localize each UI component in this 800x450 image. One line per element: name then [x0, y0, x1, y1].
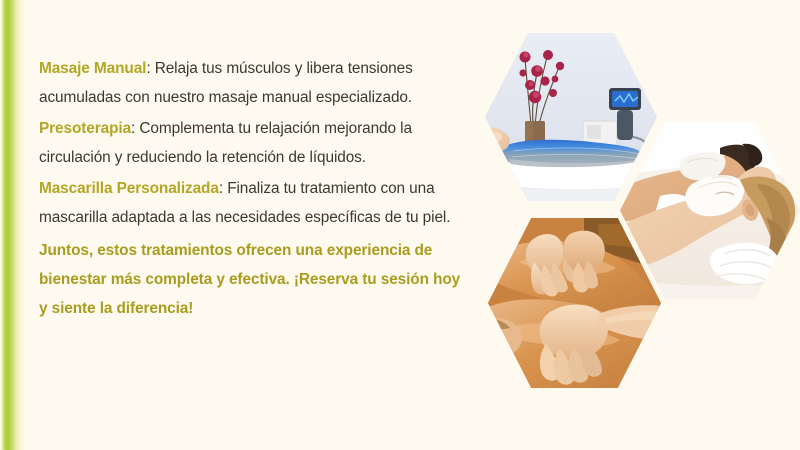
treatment-item: Presoterapia: Complementa tu relajación … — [39, 114, 471, 172]
treatment-label: Mascarilla Personalizada — [39, 180, 219, 197]
presoterapia-photo — [485, 33, 657, 201]
treatments-text-column: Masaje Manual: Relaja tus músculos y lib… — [39, 54, 471, 325]
promo-slide: Masaje Manual: Relaja tus músculos y lib… — [0, 0, 800, 450]
mascarilla-facial-artwork — [620, 122, 800, 299]
treatment-label: Presoterapia — [39, 120, 131, 137]
masaje-manual-artwork — [488, 218, 661, 388]
treatment-label: Masaje Manual — [39, 60, 146, 77]
call-to-action-text: Juntos, estos tratamientos ofrecen una e… — [39, 236, 471, 323]
left-accent-stripe — [0, 0, 26, 450]
masaje-manual-photo — [488, 218, 661, 388]
presoterapia-artwork — [485, 33, 657, 201]
hexagon-image-cluster — [470, 0, 800, 450]
mascarilla-facial-photo — [620, 122, 800, 299]
treatment-item: Masaje Manual: Relaja tus músculos y lib… — [39, 54, 471, 112]
treatment-item: Mascarilla Personalizada: Finaliza tu tr… — [39, 174, 471, 232]
